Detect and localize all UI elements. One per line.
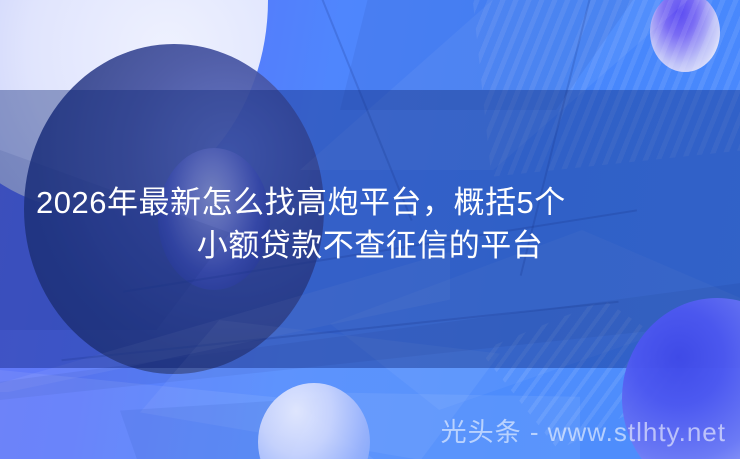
- title-line-2: 小额贷款不查征信的平台: [26, 224, 714, 267]
- title-line-1: 2026年最新怎么找高炮平台，概括5个: [26, 181, 714, 224]
- watermark-text: 光头条 - www.stlhty.net: [441, 412, 726, 449]
- page-title: 2026年最新怎么找高炮平台，概括5个 小额贷款不查征信的平台: [0, 181, 740, 267]
- banner-image: 2026年最新怎么找高炮平台，概括5个 小额贷款不查征信的平台 光头条 - ww…: [0, 0, 740, 459]
